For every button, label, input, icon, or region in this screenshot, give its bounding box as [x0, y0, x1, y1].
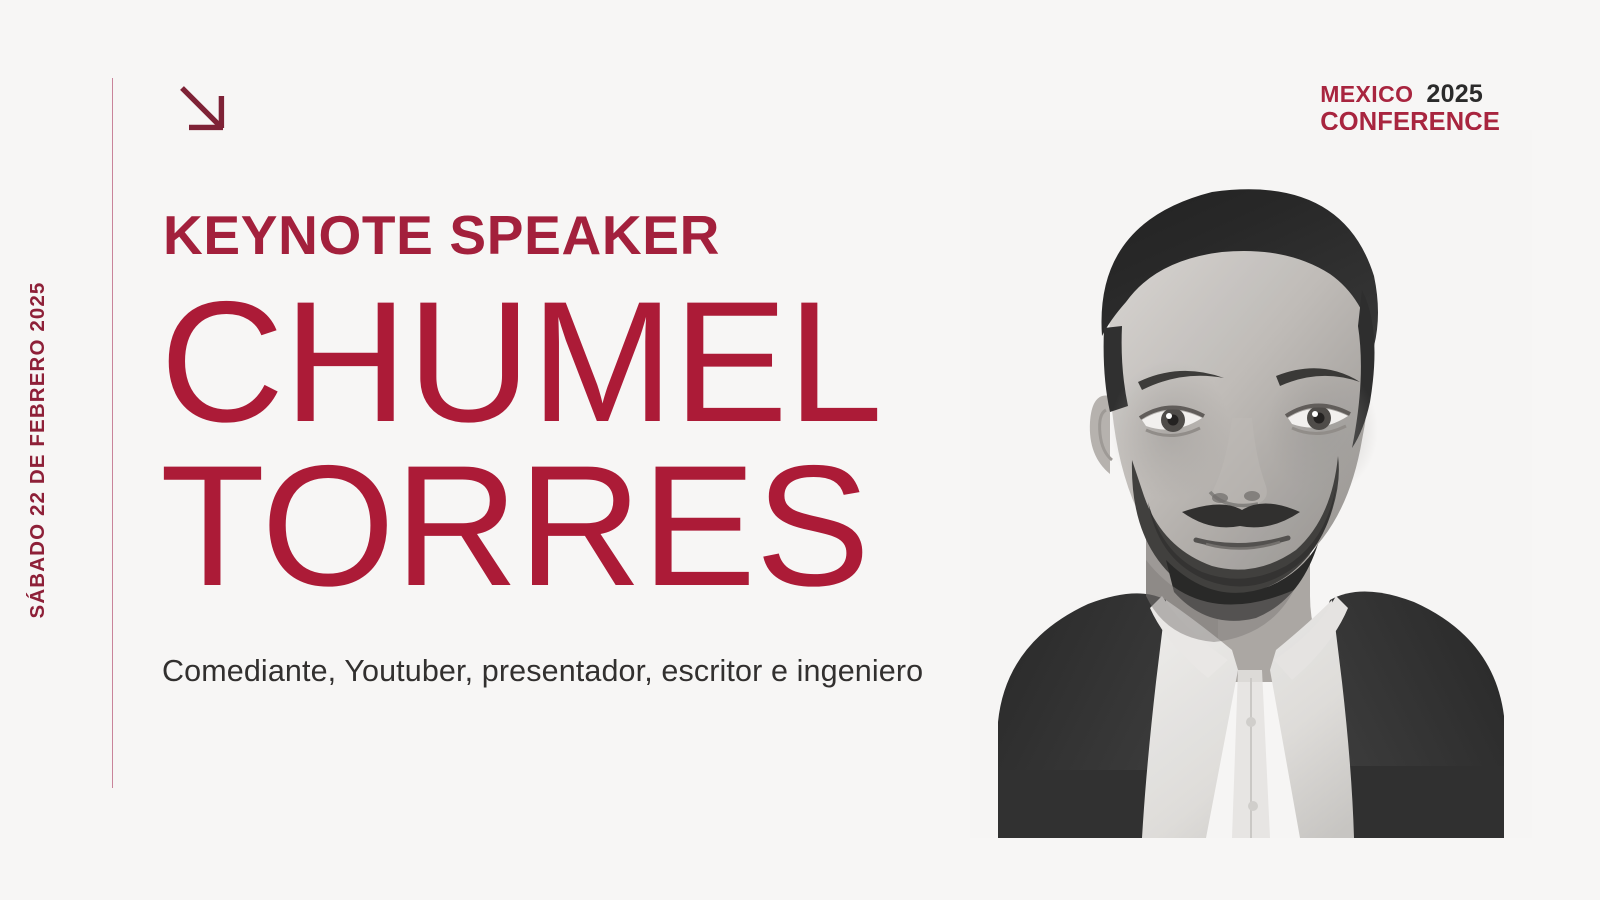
conference-logo-year: 2025 — [1426, 82, 1483, 107]
conference-logo-top-row: MEXICO 2025 — [1320, 82, 1500, 107]
vertical-divider-line — [112, 78, 113, 788]
poster-canvas: SÁBADO 22 DE FEBRERO 2025 MEXICO 2025 CO… — [0, 0, 1600, 900]
date-rail: SÁBADO 22 DE FEBRERO 2025 — [0, 0, 130, 900]
keynote-speaker-eyebrow: KEYNOTE SPEAKER — [163, 203, 720, 267]
conference-logo: MEXICO 2025 CONFERENCE — [1320, 82, 1500, 136]
event-date: SÁBADO 22 DE FEBRERO 2025 — [26, 282, 50, 619]
speaker-portrait-photo — [970, 130, 1532, 838]
speaker-description: Comediante, Youtuber, presentador, escri… — [162, 654, 923, 689]
speaker-last-name: TORRES — [160, 440, 870, 612]
conference-logo-name: MEXICO — [1320, 83, 1413, 106]
arrow-down-right-icon — [178, 84, 230, 136]
speaker-first-name: CHUMEL — [160, 276, 882, 448]
